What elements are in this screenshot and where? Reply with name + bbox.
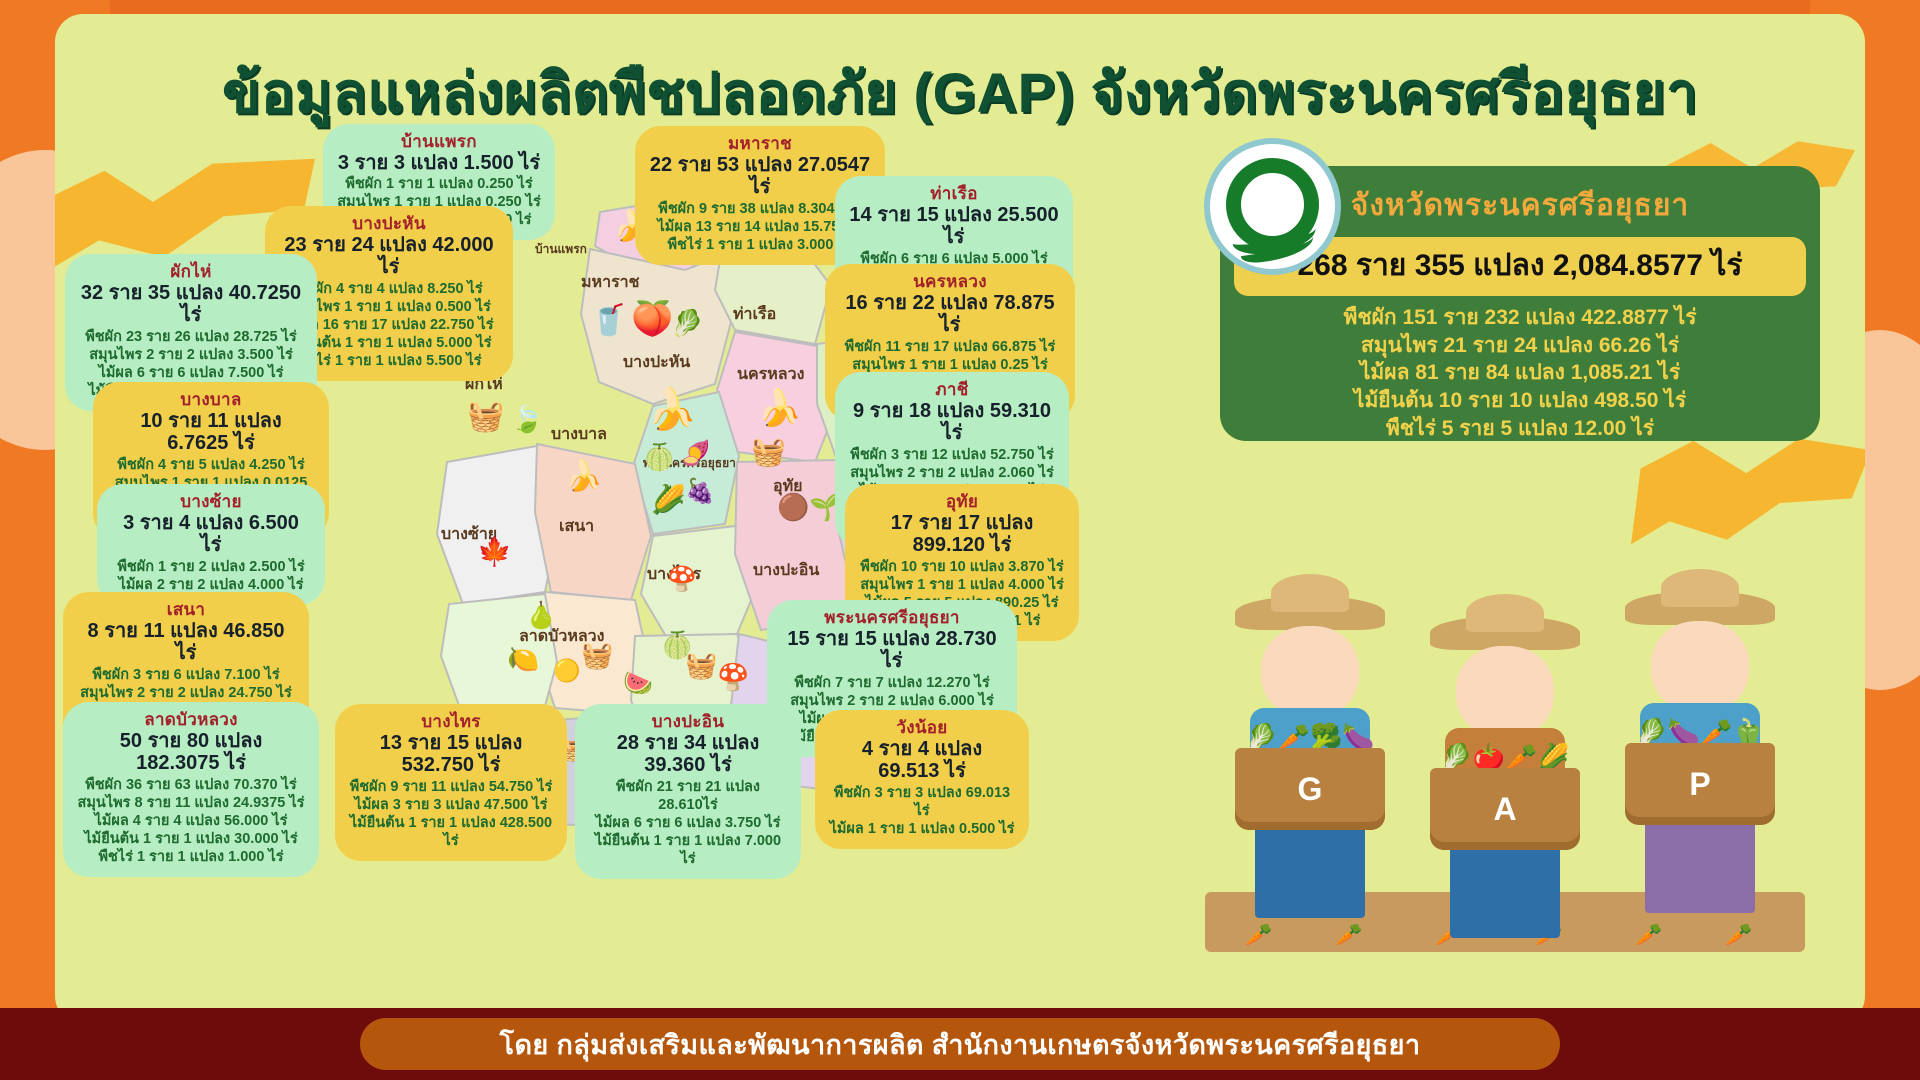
district-line: ไม้ผล 1 ราย 1 แปลง 0.500 ไร่	[829, 821, 1015, 839]
district-name: ท่าเรือ	[849, 184, 1059, 203]
farmer-g: 🥬🥕🥦🍆 G	[1215, 596, 1405, 926]
district-line: พืชผัก 23 ราย 26 แปลง 28.725 ไร่	[79, 329, 303, 347]
straw-hat-icon	[1235, 596, 1385, 630]
farmer-basket-a: A	[1430, 768, 1580, 850]
produce-pile: 🥬🍆🥕🫑	[1620, 719, 1780, 745]
footer-pill: โดย กลุ่มส่งเสริมและพัฒนาการผลิต สำนักงา…	[360, 1018, 1560, 1070]
district-total: 14 ราย 15 แปลง 25.500 ไร่	[849, 204, 1059, 249]
summary-line-fruit: ไม้ผล 81 ราย 84 แปลง 1,085.21 ไร่	[1220, 359, 1820, 387]
district-line: ไม้ยืนต้น 1 ราย 1 แปลง 428.500 ไร่	[349, 815, 553, 851]
district-card-lat-bua-luang[interactable]: ลาดบัวหลวง 50 ราย 80 แปลง 182.3075 ไร่ พ…	[63, 702, 319, 877]
district-name: บางบาล	[107, 390, 315, 409]
district-name: นครหลวง	[839, 272, 1061, 291]
district-name: บางไทร	[349, 712, 553, 731]
summary-line-herbs: สมุนไพร 21 ราย 24 แปลง 66.26 ไร่	[1220, 332, 1820, 360]
district-line: ไม้ยืนต้น 1 ราย 1 แปลง 30.000 ไร่	[77, 831, 305, 849]
footer-credit-text: โดย กลุ่มส่งเสริมและพัฒนาการผลิต สำนักงา…	[500, 1023, 1421, 1066]
district-name: ผักไห่	[79, 262, 303, 281]
district-name: ภาชี	[849, 380, 1055, 399]
summary-line-vegetables: พืชผัก 151 ราย 232 แปลง 422.8877 ไร่	[1220, 304, 1820, 332]
produce-pile: 🥬🍅🥕🌽	[1425, 744, 1585, 770]
district-name: เสนา	[77, 600, 295, 619]
footer-bar: โดย กลุ่มส่งเสริมและพัฒนาการผลิต สำนักงา…	[0, 1008, 1920, 1080]
district-line: ไม้ผล 6 ราย 6 แปลง 3.750 ไร่	[589, 815, 787, 833]
summary-breakdown-list: พืชผัก 151 ราย 232 แปลง 422.8877 ไร่ สมุ…	[1220, 304, 1820, 443]
straw-hat-icon	[1625, 591, 1775, 625]
district-total: 16 ราย 22 แปลง 78.875 ไร่	[839, 292, 1061, 337]
district-total: 3 ราย 4 แปลง 6.500 ไร่	[111, 512, 311, 557]
district-line: พืชผัก 9 ราย 11 แปลง 54.750 ไร่	[349, 779, 553, 797]
district-line: พืชผัก 4 ราย 5 แปลง 4.250 ไร่	[107, 457, 315, 475]
district-line: พืชผัก 3 ราย 3 แปลง 69.013 ไร่	[829, 785, 1015, 821]
farmer-basket-p: P	[1625, 743, 1775, 825]
district-card-bang-thai[interactable]: บางไทร 13 ราย 15 แปลง 532.750 ไร่ พืชผัก…	[335, 704, 567, 861]
district-name: พระนครศรีอยุธยา	[781, 608, 1003, 627]
district-card-bang-sai[interactable]: บางซ้าย 3 ราย 4 แปลง 6.500 ไร่ พืชผัก 1 …	[97, 484, 325, 605]
district-name: บางปะหัน	[279, 214, 499, 233]
district-line: ไม้ยืนต้น 1 ราย 1 แปลง 7.000 ไร่	[589, 833, 787, 869]
district-total: 3 ราย 3 แปลง 1.500 ไร่	[337, 152, 541, 174]
district-line: สมุนไพร 1 ราย 1 แปลง 4.000 ไร่	[859, 577, 1065, 595]
district-line: ไม้ผล 3 ราย 3 แปลง 47.500 ไร่	[349, 797, 553, 815]
page-title: ข้อมูลแหล่งผลิตพืชปลอดภัย (GAP) จังหวัดพ…	[55, 48, 1865, 137]
district-card-bang-pa-in[interactable]: บางปะอิน 28 ราย 34 แปลง 39.360 ไร่ พืชผั…	[575, 704, 801, 879]
district-line: พืชผัก 36 ราย 63 แปลง 70.370 ไร่	[77, 777, 305, 795]
district-total: 17 ราย 17 แปลง 899.120 ไร่	[859, 512, 1065, 557]
district-line: ไม้ผล 6 ราย 6 แปลง 7.500 ไร่	[79, 365, 303, 383]
summary-line-perennial: ไม้ยืนต้น 10 ราย 10 แปลง 498.50 ไร่	[1220, 387, 1820, 415]
district-line: สมุนไพร 2 ราย 2 แปลง 3.500 ไร่	[79, 347, 303, 365]
district-total: 50 ราย 80 แปลง 182.3075 ไร่	[77, 730, 305, 775]
district-total: 15 ราย 15 แปลง 28.730 ไร่	[781, 628, 1003, 673]
district-name: บางปะอิน	[589, 712, 787, 731]
farmers-illustration: 🥕 🥕 🥕 🥕 🥕 🥕 🥬🥕🥦🍆 G 🥬🍅�	[1205, 572, 1805, 952]
infographic-poster: ข้อมูลแหล่งผลิตพืชปลอดภัย (GAP) จังหวัดพ…	[0, 0, 1920, 1080]
farmer-basket-g: G	[1235, 748, 1385, 830]
district-line: พืชผัก 21 ราย 21 แปลง 28.610ไร่	[589, 779, 787, 815]
brush-stroke-right	[1631, 434, 1865, 549]
farmer-a: 🥬🍅🥕🌽 A	[1410, 616, 1600, 926]
district-line: สมุนไพร 2 ราย 2 แปลง 6.000 ไร่	[781, 693, 1003, 711]
poster-card: ข้อมูลแหล่งผลิตพืชปลอดภัย (GAP) จังหวัดพ…	[55, 14, 1865, 1024]
district-name: มหาราช	[649, 134, 871, 153]
farmer-face	[1456, 646, 1554, 738]
district-line: พืชผัก 1 ราย 2 แปลง 2.500 ไร่	[111, 559, 311, 577]
farmer-face	[1261, 626, 1359, 718]
district-line: ไม้ผล 4 ราย 4 แปลง 56.000 ไร่	[77, 813, 305, 831]
q-gap-logo-icon	[1210, 144, 1335, 269]
district-total: 8 ราย 11 แปลง 46.850 ไร่	[77, 620, 295, 665]
district-total: 13 ราย 15 แปลง 532.750 ไร่	[349, 732, 553, 777]
district-name: บางซ้าย	[111, 492, 311, 511]
district-name: บ้านแพรก	[337, 132, 541, 151]
district-total: 10 ราย 11 แปลง 6.7625 ไร่	[107, 410, 315, 455]
district-name: วังน้อย	[829, 718, 1015, 737]
district-line: สมุนไพร 2 ราย 2 แปลง 24.750 ไร่	[77, 685, 295, 703]
district-line: พืชผัก 10 ราย 10 แปลง 3.870 ไร่	[859, 559, 1065, 577]
district-total: 9 ราย 18 แปลง 59.310 ไร่	[849, 400, 1055, 445]
district-card-wang-noi[interactable]: วังน้อย 4 ราย 4 แปลง 69.513 ไร่ พืชผัก 3…	[815, 710, 1029, 849]
farmer-p: 🥬🍆🥕🫑 P	[1605, 591, 1795, 926]
farmer-face	[1651, 621, 1749, 713]
district-line: พืชผัก 11 ราย 17 แปลง 66.875 ไร่	[839, 339, 1061, 357]
district-total: 32 ราย 35 แปลง 40.7250 ไร่	[79, 282, 303, 327]
district-name: ลาดบัวหลวง	[77, 710, 305, 729]
district-line: สมุนไพร 8 ราย 11 แปลง 24.9375 ไร่	[77, 795, 305, 813]
summary-line-fieldcrop: พืชไร่ 5 ราย 5 แปลง 12.00 ไร่	[1220, 415, 1820, 443]
district-total: 4 ราย 4 แปลง 69.513 ไร่	[829, 738, 1015, 783]
district-line: สมุนไพร 2 ราย 2 แปลง 2.060 ไร่	[849, 465, 1055, 483]
district-line: พืชผัก 3 ราย 6 แปลง 7.100 ไร่	[77, 667, 295, 685]
district-total: 28 ราย 34 แปลง 39.360 ไร่	[589, 732, 787, 777]
district-line: พืชผัก 1 ราย 1 แปลง 0.250 ไร่	[337, 176, 541, 194]
district-line: พืชผัก 7 ราย 7 แปลง 12.270 ไร่	[781, 675, 1003, 693]
district-line: พืชไร่ 1 ราย 1 แปลง 1.000 ไร่	[77, 849, 305, 867]
straw-hat-icon	[1430, 616, 1580, 650]
district-line: พืชผัก 3 ราย 12 แปลง 52.750 ไร่	[849, 447, 1055, 465]
produce-pile: 🥬🥕🥦🍆	[1230, 724, 1390, 750]
district-name: อุทัย	[859, 492, 1065, 511]
